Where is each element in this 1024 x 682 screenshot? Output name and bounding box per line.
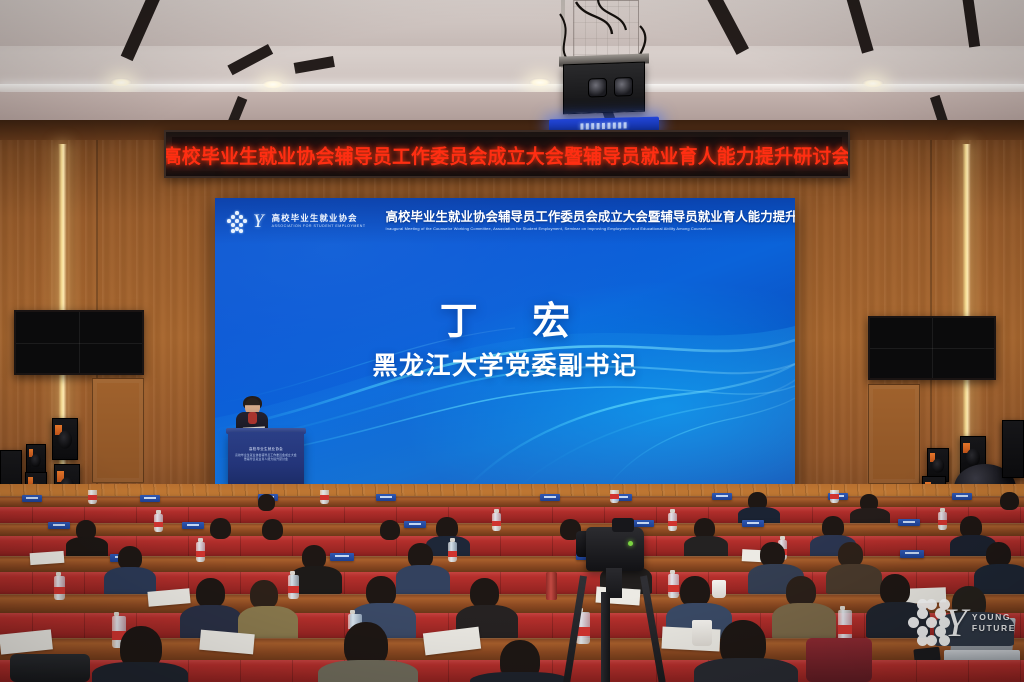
audience-shoulders <box>470 672 570 682</box>
audience-shoulders <box>694 658 798 682</box>
water-bottle <box>196 542 205 562</box>
audience-head <box>196 578 225 608</box>
podium: 高校毕业生就业协会 高校毕业生就业协会辅导员工作委员会成立大会 暨辅导员就业育人… <box>228 432 304 490</box>
name-card <box>182 522 204 529</box>
audience-shoulders <box>684 536 728 558</box>
water-bottle <box>668 513 677 531</box>
left-side-door[interactable] <box>92 378 144 483</box>
presenter-scarf <box>248 412 257 424</box>
right-side-door[interactable] <box>868 384 920 484</box>
banner-text: 高校毕业生就业协会辅导员工作委员会成立大会暨辅导员就业育人能力提升研讨会 <box>164 140 850 169</box>
seat-row <box>0 536 1024 556</box>
audience-head <box>262 519 283 540</box>
camera-viewfinder <box>612 518 634 532</box>
red-led-banner: 高校毕业生就业协会辅导员工作委员会成立大会暨辅导员就业育人能力提升研讨会 <box>164 130 850 178</box>
pa-speaker <box>52 418 78 460</box>
audience-shoulders <box>92 662 188 682</box>
water-bottle <box>668 574 679 598</box>
podium-line-1: 高校毕业生就业协会 <box>234 446 298 451</box>
audience-head <box>1000 492 1019 510</box>
name-card <box>540 494 560 501</box>
thermos-flask <box>546 572 557 600</box>
right-wall-monitor <box>868 316 996 380</box>
tripod-center-post <box>601 592 610 682</box>
association-dot-logo-icon <box>227 211 247 231</box>
name-card <box>330 553 354 561</box>
name-card <box>376 494 396 501</box>
audience-shoulders <box>66 537 108 557</box>
screen-header-en: Inaugural Meeting of the Counselor Worki… <box>386 226 795 231</box>
water-bottle <box>154 514 163 532</box>
association-name-cn: 高校毕业生就业协会 <box>272 213 366 224</box>
audience-head <box>250 580 278 609</box>
water-bottle <box>492 513 501 531</box>
audience-shoulders <box>826 564 882 594</box>
y-mark-icon: Y <box>253 212 264 231</box>
name-card <box>900 550 924 558</box>
watermark-line-2: FUTURE <box>972 623 1016 634</box>
ceiling-downlight <box>862 79 884 88</box>
water-bottle <box>88 490 97 504</box>
name-card <box>632 520 654 527</box>
ceiling-downlight <box>262 80 284 89</box>
water-bottle <box>830 490 839 503</box>
name-card <box>742 520 764 527</box>
ceiling-projector <box>563 62 645 115</box>
ceiling-downlight <box>529 78 551 87</box>
document-paper <box>30 551 65 565</box>
speaker-title: 黑龙江大学党委副书记 <box>215 346 795 382</box>
camera-record-led <box>628 541 633 546</box>
audience-shoulders <box>772 603 836 639</box>
red-bag <box>806 638 872 682</box>
projector-lens <box>614 77 633 97</box>
name-card <box>952 493 972 500</box>
name-card <box>140 495 160 502</box>
ceiling-downlight <box>110 78 132 87</box>
young-future-watermark: Y YOUNG FUTURE <box>908 592 1016 654</box>
drink-cup <box>712 580 726 598</box>
water-bottle <box>320 490 329 504</box>
name-card <box>48 522 70 529</box>
water-bottle <box>54 576 65 600</box>
association-name-en: ASSOCIATION FOR STUDENT EMPLOYMENT <box>272 224 366 229</box>
conference-hall-photo: ▮▮▮▮▮▮▮▮▮ 高校毕业生就业协会辅导员工作委员会成立大会暨辅导员就业育人能… <box>0 0 1024 682</box>
audience-head <box>210 518 231 539</box>
left-wall-monitor <box>14 310 144 375</box>
dark-bag <box>10 654 90 682</box>
name-card <box>404 521 426 528</box>
audience-head <box>880 574 910 605</box>
audience-shoulders <box>974 564 1024 594</box>
water-bottle <box>448 542 457 562</box>
pa-speaker <box>1002 420 1024 478</box>
audience-head <box>380 520 400 540</box>
drink-cup <box>692 620 712 646</box>
screen-header-cn: 高校毕业生就业协会辅导员工作委员会成立大会暨辅导员就业育人能力提升研讨会 <box>386 210 795 224</box>
projector-lens <box>588 78 607 98</box>
audience-shoulders <box>318 660 418 682</box>
water-bottle <box>938 512 947 530</box>
young-future-dot-icon <box>908 599 940 647</box>
water-bottle <box>288 575 299 599</box>
screen-header: Y 高校毕业生就业协会 ASSOCIATION FOR STUDENT EMPL… <box>215 198 795 244</box>
audience-head <box>470 578 499 608</box>
watermark-line-1: YOUNG <box>972 612 1016 623</box>
audience-area <box>0 490 1024 682</box>
association-logo: Y 高校毕业生就业协会 ASSOCIATION FOR STUDENT EMPL… <box>227 211 366 231</box>
audience-shoulders <box>396 565 450 595</box>
name-card <box>712 493 732 500</box>
video-camera <box>586 527 644 571</box>
speaker-name: 丁 宏 <box>215 290 795 345</box>
ceiling <box>0 0 1024 132</box>
podium-line-3: 暨辅导员就业育人能力提升研讨会 <box>234 458 298 462</box>
water-bottle <box>610 490 619 503</box>
name-card <box>898 519 920 526</box>
name-card <box>22 495 42 502</box>
audience-head <box>258 494 275 511</box>
